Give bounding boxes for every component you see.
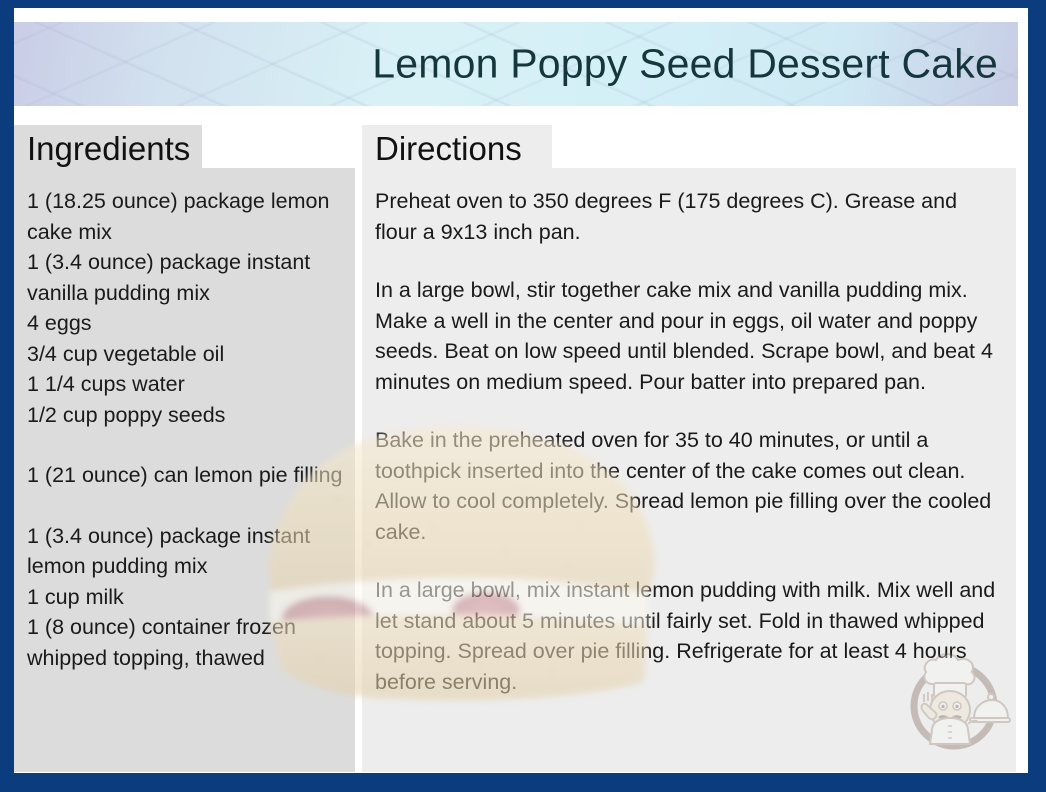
ingredient-line: 1 1/4 cups water	[27, 369, 341, 400]
ingredient-group-spacer	[27, 430, 341, 460]
ingredient-line: 3/4 cup vegetable oil	[27, 339, 341, 370]
ingredient-group-spacer	[27, 491, 341, 521]
ingredients-heading: Ingredients	[14, 125, 202, 172]
ingredient-line: 1 cup milk	[27, 582, 341, 613]
direction-paragraph: In a large bowl, mix instant lemon puddi…	[375, 575, 1002, 697]
ingredient-line: 1 (3.4 ounce) package instant	[27, 247, 341, 278]
ingredient-line: 1 (3.4 ounce) package instant	[27, 521, 341, 552]
page-title: Lemon Poppy Seed Dessert Cake	[372, 41, 998, 88]
ingredient-line: whipped topping, thawed	[27, 643, 341, 674]
directions-heading: Directions	[362, 125, 552, 172]
ingredient-line: vanilla pudding mix	[27, 278, 341, 309]
ingredient-line: 1 (18.25 ounce) package lemon	[27, 186, 341, 217]
ingredient-line: 4 eggs	[27, 308, 341, 339]
direction-paragraph: Bake in the preheated oven for 35 to 40 …	[375, 425, 1002, 547]
recipe-card: Lemon Poppy Seed Dessert Cake Ingredient…	[0, 0, 1046, 792]
ingredient-line: lemon pudding mix	[27, 551, 341, 582]
ingredient-line: 1 (21 ounce) can lemon pie filling	[27, 460, 341, 491]
directions-panel: Preheat oven to 350 degrees F (175 degre…	[362, 168, 1016, 772]
ingredient-line: cake mix	[27, 217, 341, 248]
ingredients-panel: 1 (18.25 ounce) package lemoncake mix1 (…	[14, 168, 355, 772]
direction-paragraph: Preheat oven to 350 degrees F (175 degre…	[375, 186, 1002, 247]
ingredient-line: 1/2 cup poppy seeds	[27, 400, 341, 431]
direction-paragraph: In a large bowl, stir together cake mix …	[375, 275, 1002, 397]
ingredient-line: 1 (8 ounce) container frozen	[27, 612, 341, 643]
title-banner: Lemon Poppy Seed Dessert Cake	[14, 22, 1018, 106]
